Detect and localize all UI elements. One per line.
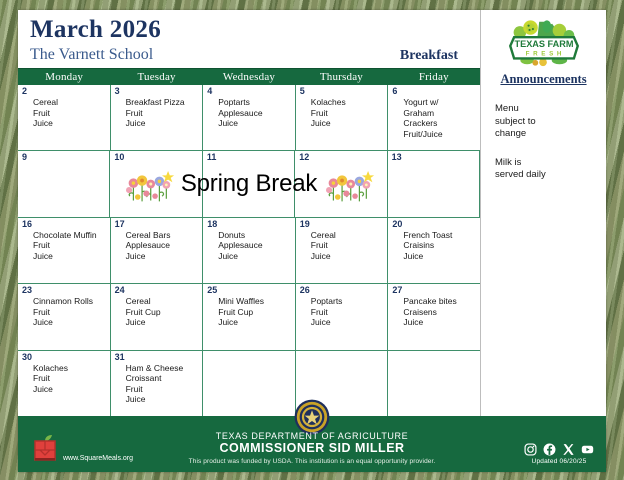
weekday-header-row: MondayTuesdayWednesdayThursdayFriday <box>18 68 480 85</box>
calendar-day-10: 10 <box>110 151 202 216</box>
day-number: 23 <box>22 285 107 296</box>
menu-item: Craisens <box>403 307 477 318</box>
menu-item: Juice <box>126 251 200 262</box>
calendar-day-19: 19CerealFruitJuice <box>296 218 389 283</box>
calendar-day-25: 25Mini WafflesFruit CupJuice <box>203 284 296 349</box>
content-split: March 2026 The Varnett School Breakfast … <box>18 10 606 416</box>
x-twitter-icon[interactable] <box>562 443 575 456</box>
month-title: March 2026 <box>30 15 480 45</box>
menu-item: Juice <box>311 118 385 129</box>
announcement-note-2: Milk isserved daily <box>481 157 546 182</box>
day-number: 4 <box>207 86 292 97</box>
weekday-header-tuesday: Tuesday <box>110 69 202 85</box>
menu-item: Juice <box>33 317 107 328</box>
menu-item: Juice <box>126 118 200 129</box>
menu-item-list: French ToastCraisinsJuice <box>392 230 477 262</box>
day-number: 11 <box>207 152 291 163</box>
calendar-day-18: 18DonutsApplesauceJuice <box>203 218 296 283</box>
menu-item: Fruit <box>33 240 107 251</box>
calendar-grid: 2CerealFruitJuice3Breakfast PizzaFruitJu… <box>18 85 480 416</box>
menu-item: Juice <box>403 317 477 328</box>
menu-item: Fruit <box>33 108 107 119</box>
weekday-header-friday: Friday <box>388 69 480 85</box>
calendar-day-26: 26PoptartsFruitJuice <box>296 284 389 349</box>
menu-item: Graham <box>403 108 477 119</box>
meal-type-label: Breakfast <box>400 48 458 64</box>
menu-item: Fruit <box>33 373 107 384</box>
menu-item: Crackers <box>403 118 477 129</box>
announcement-line: subject to <box>495 116 536 129</box>
menu-item: Breakfast Pizza <box>126 97 200 108</box>
weekday-header-thursday: Thursday <box>295 69 387 85</box>
calendar-day-23: 23Cinnamon RollsFruitJuice <box>18 284 111 349</box>
calendar-day-empty <box>388 351 480 416</box>
usda-disclaimer: This product was funded by USDA. This in… <box>189 458 436 465</box>
texas-farm-fresh-logo: TEXAS FARM F R E S H <box>505 16 583 70</box>
day-number: 27 <box>392 285 477 296</box>
calendar-week-row: 30KolachesFruitJuice31Ham & CheeseCroiss… <box>18 351 480 416</box>
calendar-week-row: 23Cinnamon RollsFruitJuice24CerealFruit … <box>18 284 480 350</box>
menu-item: Juice <box>126 317 200 328</box>
calendar-day-30: 30KolachesFruitJuice <box>18 351 111 416</box>
calendar-day-3: 3Breakfast PizzaFruitJuice <box>111 85 204 150</box>
menu-item: Applesauce <box>218 240 292 251</box>
menu-item: Yogurt w/ <box>403 97 477 108</box>
day-number: 9 <box>22 152 106 163</box>
calendar-column: March 2026 The Varnett School Breakfast … <box>18 10 480 416</box>
menu-item: Fruit/Juice <box>403 129 477 140</box>
calendar-day-empty <box>203 351 296 416</box>
svg-text:TEXAS FARM: TEXAS FARM <box>514 39 573 49</box>
calendar-day-13: 13 <box>388 151 480 216</box>
day-number: 19 <box>300 219 385 230</box>
day-number: 24 <box>115 285 200 296</box>
menu-item: Fruit <box>33 307 107 318</box>
calendar-day-24: 24CerealFruit CupJuice <box>111 284 204 349</box>
menu-item: Applesauce <box>126 240 200 251</box>
menu-item: Juice <box>218 317 292 328</box>
menu-item: Poptarts <box>311 296 385 307</box>
menu-item: Juice <box>218 251 292 262</box>
social-links-row <box>524 443 594 456</box>
calendar-week-row: 910111213 Spring Break <box>18 151 480 217</box>
menu-item-list: DonutsApplesauceJuice <box>207 230 292 262</box>
menu-item-list: Cereal BarsApplesauceJuice <box>115 230 200 262</box>
calendar-week-row: 16Chocolate MuffinFruitJuice17Cereal Bar… <box>18 218 480 284</box>
menu-item: Cereal Bars <box>126 230 200 241</box>
menu-item-list: CerealFruit CupJuice <box>115 296 200 328</box>
menu-item: Ham & Cheese <box>126 363 200 374</box>
menu-item: Fruit Cup <box>126 307 200 318</box>
updated-date: Updated 06/20/25 <box>532 458 587 465</box>
menu-item: Fruit <box>311 108 385 119</box>
commissioner-name: COMMISSIONER SID MILLER <box>219 441 404 455</box>
day-number: 6 <box>392 86 477 97</box>
menu-item: Juice <box>33 118 107 129</box>
menu-item: Poptarts <box>218 97 292 108</box>
calendar-day-2: 2CerealFruitJuice <box>18 85 111 150</box>
day-number: 20 <box>392 219 477 230</box>
day-number: 16 <box>22 219 107 230</box>
day-number: 5 <box>300 86 385 97</box>
menu-item-list: PoptartsFruitJuice <box>300 296 385 328</box>
calendar-day-6: 6Yogurt w/GrahamCrackersFruit/Juice <box>388 85 480 150</box>
svg-text:F R E S H: F R E S H <box>525 51 562 58</box>
menu-item-list: Ham & CheeseCroissantFruitJuice <box>115 363 200 405</box>
menu-item-list: Pancake bitesCraisensJuice <box>392 296 477 328</box>
menu-item: Fruit <box>311 240 385 251</box>
menu-item: Juice <box>311 251 385 262</box>
menu-item: Juice <box>311 317 385 328</box>
menu-item-list: Mini WafflesFruit CupJuice <box>207 296 292 328</box>
calendar-day-9: 9 <box>18 151 110 216</box>
day-number: 25 <box>207 285 292 296</box>
calendar-day-16: 16Chocolate MuffinFruitJuice <box>18 218 111 283</box>
title-block: March 2026 The Varnett School Breakfast <box>18 10 480 68</box>
calendar-day-27: 27Pancake bitesCraisensJuice <box>388 284 480 349</box>
menu-item: Donuts <box>218 230 292 241</box>
facebook-icon[interactable] <box>543 443 556 456</box>
menu-item: Fruit <box>126 108 200 119</box>
calendar-day-12: 12 <box>295 151 387 216</box>
menu-item: Kolaches <box>311 97 385 108</box>
day-number: 31 <box>115 352 200 363</box>
menu-item-list: PoptartsApplesauceJuice <box>207 97 292 129</box>
menu-item-list: CerealFruitJuice <box>22 97 107 129</box>
instagram-icon[interactable] <box>524 443 537 456</box>
menu-item: Juice <box>33 251 107 262</box>
menu-item: Cereal <box>126 296 200 307</box>
footer: www.SquareMeals.org TEXAS DEPARTMENT OF … <box>18 416 606 472</box>
calendar-week-row: 2CerealFruitJuice3Breakfast PizzaFruitJu… <box>18 85 480 151</box>
menu-item-list: Yogurt w/GrahamCrackersFruit/Juice <box>392 97 477 139</box>
calendar-day-17: 17Cereal BarsApplesauceJuice <box>111 218 204 283</box>
menu-item: Pancake bites <box>403 296 477 307</box>
menu-item: Juice <box>126 394 200 405</box>
menu-item-list: Breakfast PizzaFruitJuice <box>115 97 200 129</box>
menu-item-list: CerealFruitJuice <box>300 230 385 262</box>
menu-item: Juice <box>218 118 292 129</box>
day-number: 3 <box>115 86 200 97</box>
menu-item: Fruit <box>126 384 200 395</box>
menu-item: Juice <box>403 251 477 262</box>
announcements-heading: Announcements <box>500 72 586 87</box>
day-number: 17 <box>115 219 200 230</box>
menu-item: Cereal <box>311 230 385 241</box>
day-number: 26 <box>300 285 385 296</box>
menu-item: Applesauce <box>218 108 292 119</box>
day-number: 12 <box>299 152 383 163</box>
menu-item: Juice <box>33 384 107 395</box>
menu-item: Chocolate Muffin <box>33 230 107 241</box>
calendar-day-5: 5KolachesFruitJuice <box>296 85 389 150</box>
announcement-line: served daily <box>495 169 546 182</box>
announcement-line: change <box>495 128 536 141</box>
day-number: 18 <box>207 219 292 230</box>
agency-credit: TEXAS DEPARTMENT OF AGRICULTURE COMMISSI… <box>18 416 606 472</box>
agency-name: TEXAS DEPARTMENT OF AGRICULTURE <box>216 431 408 441</box>
menu-item: Fruit Cup <box>218 307 292 318</box>
menu-item: French Toast <box>403 230 477 241</box>
menu-item: Craisins <box>403 240 477 251</box>
weekday-header-monday: Monday <box>18 69 110 85</box>
day-number: 10 <box>114 152 198 163</box>
menu-item-list: KolachesFruitJuice <box>22 363 107 395</box>
youtube-icon[interactable] <box>581 443 594 456</box>
menu-item: Fruit <box>311 307 385 318</box>
menu-item: Croissant <box>126 373 200 384</box>
announcement-line: Menu <box>495 103 536 116</box>
menu-item: Mini Waffles <box>218 296 292 307</box>
calendar-day-20: 20French ToastCraisinsJuice <box>388 218 480 283</box>
announcement-line: Milk is <box>495 157 546 170</box>
menu-item-list: Chocolate MuffinFruitJuice <box>22 230 107 262</box>
menu-item-list: KolachesFruitJuice <box>300 97 385 129</box>
menu-item: Kolaches <box>33 363 107 374</box>
calendar-day-31: 31Ham & CheeseCroissantFruitJuice <box>111 351 204 416</box>
day-number: 13 <box>392 152 476 163</box>
weekday-header-wednesday: Wednesday <box>203 69 295 85</box>
menu-item-list: Cinnamon RollsFruitJuice <box>22 296 107 328</box>
announcements-column: TEXAS FARM F R E S H Announcements Menus… <box>480 10 606 416</box>
day-number: 2 <box>22 86 107 97</box>
announcement-note-1: Menusubject tochange <box>481 103 536 141</box>
calendar-day-4: 4PoptartsApplesauceJuice <box>203 85 296 150</box>
calendar-day-11: 11 <box>203 151 295 216</box>
social-and-updated: Updated 06/20/25 <box>524 443 594 465</box>
menu-item: Cinnamon Rolls <box>33 296 107 307</box>
menu-item: Cereal <box>33 97 107 108</box>
menu-card: March 2026 The Varnett School Breakfast … <box>18 10 606 472</box>
day-number: 30 <box>22 352 107 363</box>
